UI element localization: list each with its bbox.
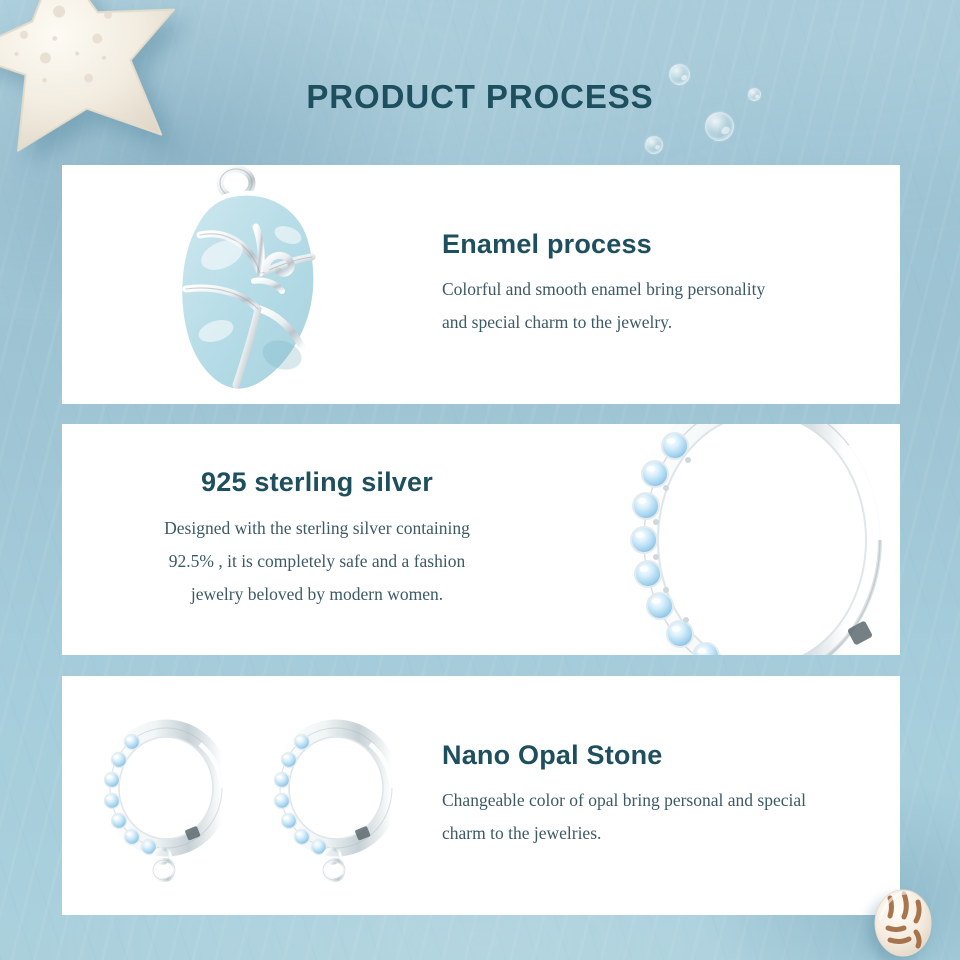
- page-title: PRODUCT PROCESS: [0, 78, 960, 116]
- bubble-icon: [705, 112, 734, 141]
- panel-nano-opal-stone: Nano Opal Stone Changeable color of opal…: [62, 676, 900, 915]
- panel-sterling-silver: 925 sterling silver Designed with the st…: [62, 424, 900, 655]
- panel-body-line: Changeable color of opal bring personal …: [442, 784, 892, 817]
- enamel-shell-pendant-image: [62, 165, 462, 404]
- panel-body-line: and special charm to the jewelry.: [442, 306, 882, 339]
- panel-body-line: Colorful and smooth enamel bring persona…: [442, 273, 882, 306]
- panel-heading: Nano Opal Stone: [442, 741, 892, 771]
- product-process-infographic: PRODUCT PROCESS: [0, 0, 960, 960]
- seashell-icon: [866, 884, 940, 958]
- panel-body-line: Designed with the sterling silver contai…: [164, 512, 470, 545]
- silver-hoop-earring-image: [602, 424, 900, 655]
- panel-enamel-text: Enamel process Colorful and smooth ename…: [442, 165, 882, 404]
- panel-body-line: charm to the jewelries.: [442, 817, 892, 850]
- panel-body-line: jewelry beloved by modern women.: [191, 578, 443, 611]
- panel-enamel-process: Enamel process Colorful and smooth ename…: [62, 165, 900, 404]
- panel-opal-text: Nano Opal Stone Changeable color of opal…: [442, 676, 892, 915]
- panel-heading: Enamel process: [442, 230, 882, 260]
- panel-heading: 925 sterling silver: [201, 468, 433, 498]
- bubble-icon: [645, 136, 663, 154]
- panel-body-line: 92.5% , it is completely safe and a fash…: [169, 545, 465, 578]
- opal-hoop-earring-pair-image: [62, 676, 462, 915]
- panel-silver-text: 925 sterling silver Designed with the st…: [82, 424, 552, 655]
